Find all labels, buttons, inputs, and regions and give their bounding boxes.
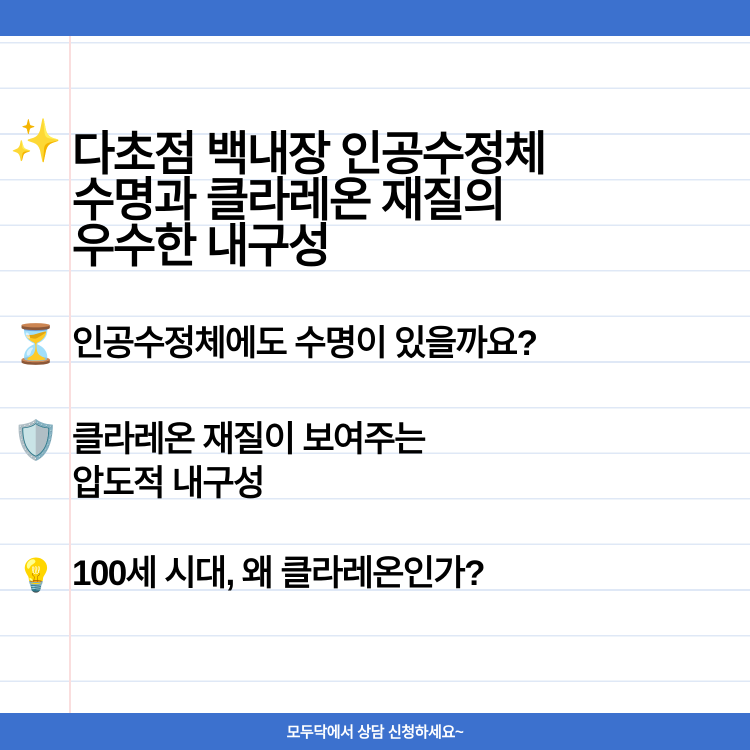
list-item-label: 인공수정체에도 수명이 있을까요? [72,322,750,366]
footer-cta-bar[interactable]: 모두닥에서 상담 신청하세요~ [0,713,750,750]
page-title: 다초점 백내장 인공수정체 수명과 클라레온 재질의 우수한 내구성 [72,131,750,269]
sparkles-icon: ✨ [0,100,72,162]
hourglass-icon: ⏳ [0,322,72,363]
light-bulb-icon: 💡 [0,552,72,591]
list-item-label: 클라레온 재질이 보여주는 압도적 내구성 [72,418,750,506]
list-item: ⏳ 인공수정체에도 수명이 있을까요? [0,322,750,366]
top-accent-bar [0,0,750,36]
list-item: 💡 100세 시대, 왜 클라레온인가? [0,552,750,596]
headline-block: ✨ 다초점 백내장 인공수정체 수명과 클라레온 재질의 우수한 내구성 [0,100,750,301]
list-item-label: 100세 시대, 왜 클라레온인가? [72,552,750,596]
shield-icon: 🛡️ [0,418,72,459]
footer-cta-label: 모두닥에서 상담 신청하세요~ [287,721,464,742]
topic-list: ⏳ 인공수정체에도 수명이 있을까요? 🛡️ 클라레온 재질이 보여주는 압도적… [0,322,750,596]
card-content: ✨ 다초점 백내장 인공수정체 수명과 클라레온 재질의 우수한 내구성 ⏳ 인… [0,36,750,713]
info-card: ✨ 다초점 백내장 인공수정체 수명과 클라레온 재질의 우수한 내구성 ⏳ 인… [0,0,750,750]
list-item: 🛡️ 클라레온 재질이 보여주는 압도적 내구성 [0,418,750,506]
